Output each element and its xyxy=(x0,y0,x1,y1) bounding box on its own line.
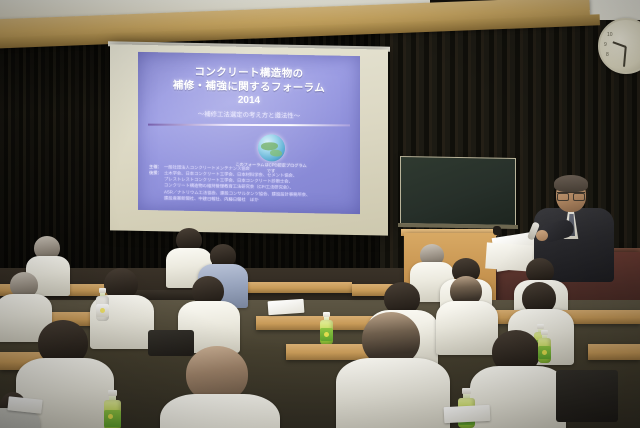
slide-credits: 主催：一般社団法人コンクリートメンテナンス協会 後援：土木学会、日本コンクリート… xyxy=(149,164,352,205)
clock-minute-hand xyxy=(624,47,627,67)
credit-text: 建設産業新聞社、中建日報社、内藤日報社 ほか xyxy=(164,195,259,202)
lecture-hall-photo: 10 9 8 コンクリート構造物の 補修・補強に関するフォーラム 2014 ～補… xyxy=(0,0,640,428)
desk-row-far xyxy=(232,282,352,293)
attendee-torso xyxy=(160,394,280,428)
desk-row-near xyxy=(588,344,640,360)
handout-paper xyxy=(268,299,305,315)
bottle-label xyxy=(104,410,121,427)
clock-tick-8: 8 xyxy=(606,52,609,58)
bottle-label xyxy=(538,346,551,359)
handout-paper xyxy=(444,405,491,423)
slide-subtitle: ～補修工法選定の考え方と遵法性～ xyxy=(138,108,360,121)
slide-title: コンクリート構造物の 補修・補強に関するフォーラム xyxy=(138,64,360,96)
microphone-icon xyxy=(493,226,501,235)
attendee-torso xyxy=(436,301,498,355)
speaker-hair xyxy=(554,175,588,192)
water-bottle xyxy=(96,288,109,321)
blackboard xyxy=(400,156,516,226)
clock-tick-9: 9 xyxy=(604,42,607,48)
glasses-icon xyxy=(557,192,585,198)
speaker-hand xyxy=(536,230,548,241)
attendee-torso xyxy=(336,358,450,428)
bottle-label xyxy=(96,304,109,317)
slide-divider xyxy=(148,124,350,127)
tea-bottle xyxy=(538,330,551,363)
projected-slide: コンクリート構造物の 補修・補強に関するフォーラム 2014 ～補修工法選定の考… xyxy=(138,52,360,214)
tea-bottle xyxy=(320,312,333,345)
attendee-bag xyxy=(148,330,194,356)
bottle-label xyxy=(320,328,333,341)
clock-tick-10: 10 xyxy=(607,32,613,38)
globe-icon xyxy=(258,134,285,162)
tea-bottle xyxy=(104,390,121,428)
attendee-bag xyxy=(556,370,618,422)
